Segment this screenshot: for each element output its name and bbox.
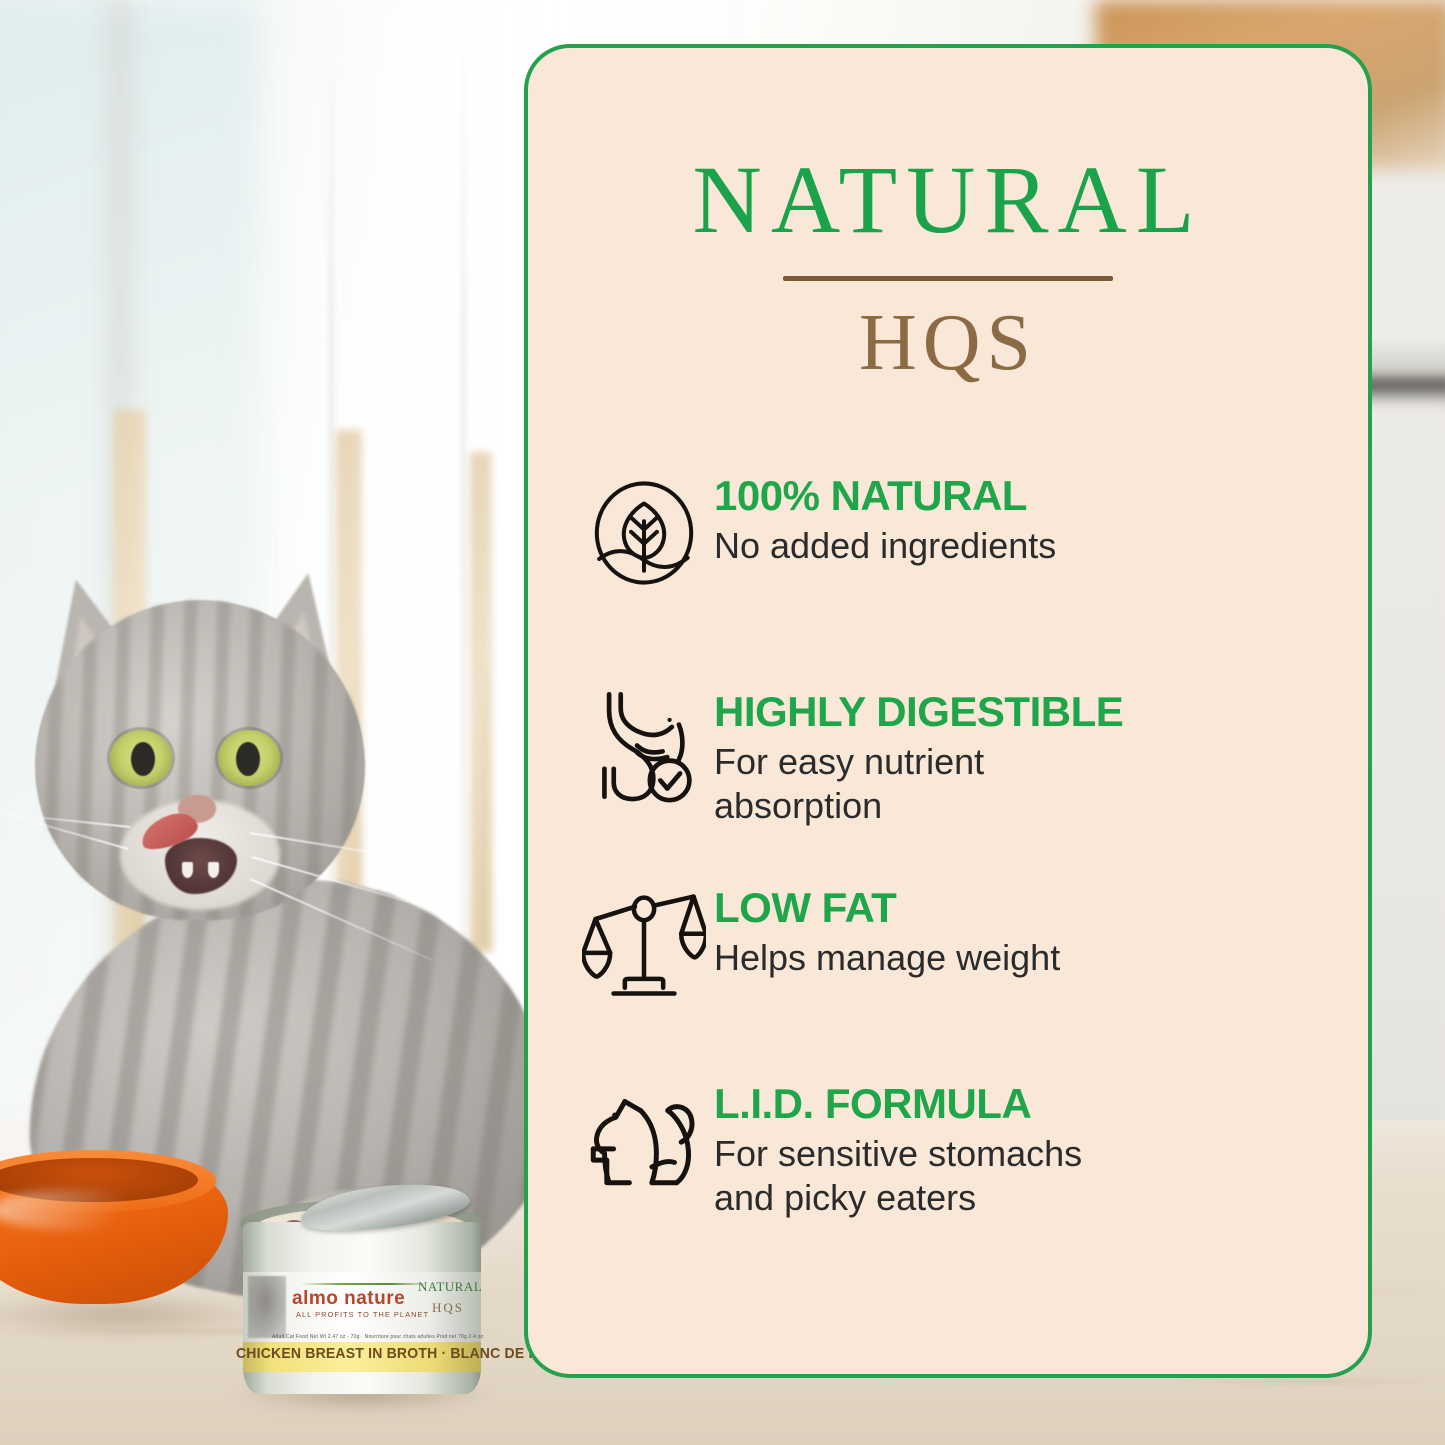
- feature-title: L.I.D. FORMULA: [714, 1082, 1338, 1126]
- feature-desc: No added ingredients: [714, 524, 1338, 568]
- feature-text: HIGHLY DIGESTIBLE For easy nutrient abso…: [714, 684, 1338, 828]
- balance-scale-icon: [574, 880, 714, 1010]
- feature-text: 100% NATURAL No added ingredients: [714, 468, 1338, 568]
- feature-title: HIGHLY DIGESTIBLE: [714, 690, 1338, 734]
- feature-list: 100% NATURAL No added ingredients: [574, 468, 1338, 1282]
- feature-title: LOW FAT: [714, 886, 1338, 930]
- feature-desc: For easy nutrient absorption: [714, 740, 1338, 828]
- can-green-accent: [300, 1283, 430, 1285]
- feature-card: NATURAL HQS: [524, 44, 1372, 1378]
- cat-tooth: [182, 862, 193, 878]
- can-hqs-text: HQS: [432, 1300, 464, 1316]
- sitting-cat-icon: [574, 1076, 714, 1206]
- feature-item-lid-formula: L.I.D. FORMULA For sensitive stomachs an…: [574, 1076, 1338, 1220]
- feature-item-natural: 100% NATURAL No added ingredients: [574, 468, 1338, 598]
- brand-divider: [783, 276, 1113, 281]
- feature-desc: Helps manage weight: [714, 936, 1338, 980]
- feature-text: LOW FAT Helps manage weight: [714, 880, 1338, 980]
- can-flavor-text: CHICKEN BREAST IN BROTH · BLANC DE POULE…: [236, 1345, 496, 1362]
- can-cat-photo: [248, 1276, 286, 1338]
- feature-item-low-fat: LOW FAT Helps manage weight: [574, 880, 1338, 1010]
- feature-desc: For sensitive stomachs and picky eaters: [714, 1132, 1338, 1220]
- brand-subtitle: HQS: [528, 303, 1368, 383]
- can-fineprint-text: Adult Cat Food Net Wt 2.47 oz - 70g · No…: [272, 1334, 483, 1340]
- stomach-check-icon: [574, 684, 714, 814]
- brand-header: NATURAL HQS: [528, 152, 1368, 383]
- can-natural-text: NATURAL: [418, 1279, 482, 1295]
- cat-pupil-right: [236, 742, 260, 776]
- can-tagline-text: ALL PROFITS TO THE PLANET: [296, 1310, 446, 1319]
- furniture-edge: [470, 452, 492, 952]
- brand-title: NATURAL: [528, 152, 1368, 248]
- floor-grain: [1180, 1380, 1440, 1383]
- leaf-in-circle-icon: [574, 468, 714, 598]
- cat-pupil-left: [131, 742, 155, 776]
- feature-text: L.I.D. FORMULA For sensitive stomachs an…: [714, 1076, 1338, 1220]
- feature-title: 100% NATURAL: [714, 474, 1338, 518]
- feature-item-digestible: HIGHLY DIGESTIBLE For easy nutrient abso…: [574, 684, 1338, 828]
- product-feature-image: almo nature ALL PROFITS TO THE PLANET NA…: [0, 0, 1445, 1445]
- cat-tooth: [208, 862, 219, 878]
